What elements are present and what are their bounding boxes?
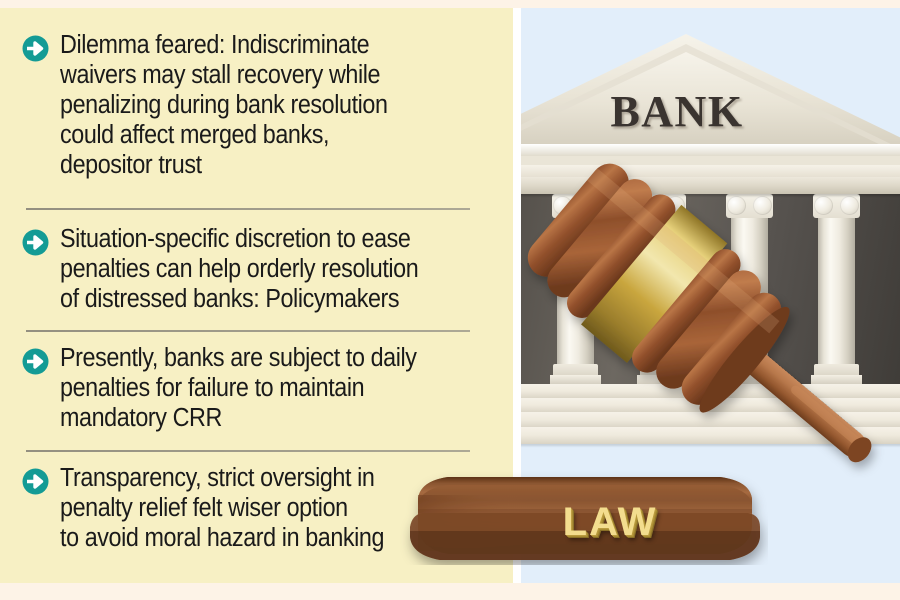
arrow-right-circle-icon [22, 229, 49, 256]
arrow-right-circle-icon [22, 348, 49, 375]
step [521, 427, 900, 444]
infographic-canvas: BANK [0, 0, 900, 600]
bullet-list: Dilemma feared: Indiscriminate waivers m… [0, 8, 513, 583]
list-divider [26, 330, 470, 332]
list-item-label: Transparency, strict oversight in penalt… [60, 463, 384, 553]
bottom-edge-band [0, 583, 900, 600]
top-edge-band [0, 0, 900, 8]
column [552, 194, 599, 386]
list-item-label: Situation-specific discretion to ease pe… [60, 224, 418, 314]
column [726, 194, 773, 386]
arrow-right-circle-icon [22, 35, 49, 62]
list-item: Situation-specific discretion to ease pe… [22, 224, 490, 314]
list-divider [26, 208, 470, 210]
list-divider [26, 450, 470, 452]
column [813, 194, 860, 386]
list-item: Transparency, strict oversight in penalt… [22, 463, 490, 553]
list-item: Presently, banks are subject to daily pe… [22, 343, 490, 433]
architrave [521, 176, 900, 194]
list-item-label: Dilemma feared: Indiscriminate waivers m… [60, 30, 388, 180]
column [639, 194, 686, 386]
step [521, 412, 900, 428]
arrow-right-circle-icon [22, 468, 49, 495]
law-sign-text: LAW [530, 500, 690, 545]
step [521, 398, 900, 413]
list-item-label: Presently, banks are subject to daily pe… [60, 343, 417, 433]
step [521, 384, 900, 399]
bank-sign-text: BANK [587, 86, 767, 137]
list-item: Dilemma feared: Indiscriminate waivers m… [22, 30, 490, 180]
